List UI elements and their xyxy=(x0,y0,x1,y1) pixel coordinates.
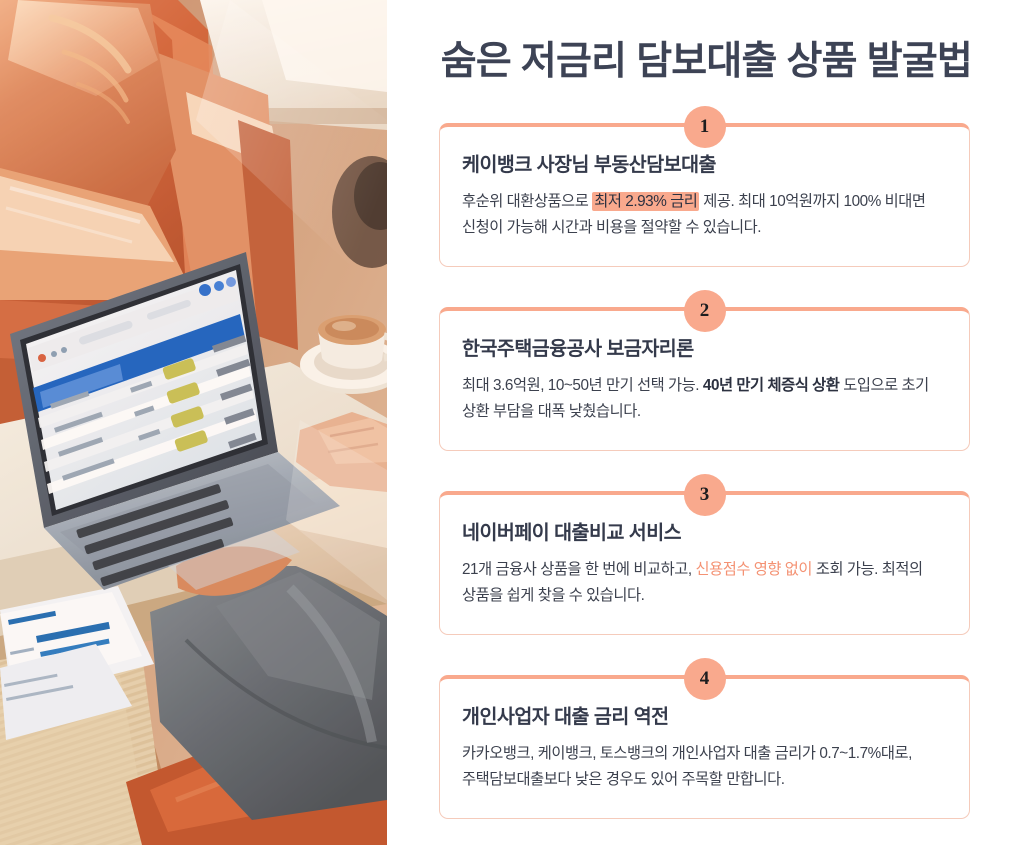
step-badge: 4 xyxy=(684,658,726,700)
product-card[interactable]: 3 네이버페이 대출비교 서비스 21개 금융사 상품을 한 번에 비교하고, … xyxy=(439,491,970,635)
card-title: 개인사업자 대출 금리 역전 xyxy=(462,705,945,730)
text-run-bold: 40년 만기 체증식 상환 xyxy=(703,377,840,394)
step-badge: 2 xyxy=(684,290,726,332)
card-wrap-3: 3 네이버페이 대출비교 서비스 21개 금융사 상품을 한 번에 비교하고, … xyxy=(439,491,970,635)
content-panel: 숨은 저금리 담보대출 상품 발굴법 1 케이뱅크 사장님 부동산담보대출 후순… xyxy=(387,0,1024,845)
product-card[interactable]: 1 케이뱅크 사장님 부동산담보대출 후순위 대환상품으로 최저 2.93% 금… xyxy=(439,123,970,267)
card-wrap-4: 4 개인사업자 대출 금리 역전 카카오뱅크, 케이뱅크, 토스뱅크의 개인사업… xyxy=(439,675,970,819)
infographic-page: 숨은 저금리 담보대출 상품 발굴법 1 케이뱅크 사장님 부동산담보대출 후순… xyxy=(0,0,1024,845)
card-title: 케이뱅크 사장님 부동산담보대출 xyxy=(462,153,945,178)
product-card[interactable]: 2 한국주택금융공사 보금자리론 최대 3.6억원, 10~50년 만기 선택 … xyxy=(439,307,970,451)
card-title: 한국주택금융공사 보금자리론 xyxy=(462,337,945,362)
card-body: 21개 금융사 상품을 한 번에 비교하고, 신용점수 영향 없이 조회 가능.… xyxy=(462,557,945,610)
step-badge: 3 xyxy=(684,474,726,516)
card-title: 네이버페이 대출비교 서비스 xyxy=(462,521,945,546)
card-list: 1 케이뱅크 사장님 부동산담보대출 후순위 대환상품으로 최저 2.93% 금… xyxy=(387,123,1024,819)
card-wrap-2: 2 한국주택금융공사 보금자리론 최대 3.6억원, 10~50년 만기 선택 … xyxy=(439,307,970,451)
text-run-plain: 후순위 대환상품으로 xyxy=(462,193,592,210)
step-badge: 1 xyxy=(684,106,726,148)
card-wrap-1: 1 케이뱅크 사장님 부동산담보대출 후순위 대환상품으로 최저 2.93% 금… xyxy=(439,123,970,267)
product-card[interactable]: 4 개인사업자 대출 금리 역전 카카오뱅크, 케이뱅크, 토스뱅크의 개인사업… xyxy=(439,675,970,819)
page-title: 숨은 저금리 담보대출 상품 발굴법 xyxy=(387,0,1024,87)
card-body: 최대 3.6억원, 10~50년 만기 선택 가능. 40년 만기 체증식 상환… xyxy=(462,373,945,426)
card-body: 카카오뱅크, 케이뱅크, 토스뱅크의 개인사업자 대출 금리가 0.7~1.7%… xyxy=(462,741,945,794)
text-run-plain: 21개 금융사 상품을 한 번에 비교하고, xyxy=(462,561,695,578)
text-run-color: 신용점수 영향 없이 xyxy=(695,561,812,578)
text-run-highlight: 최저 2.93% 금리 xyxy=(592,192,699,211)
photo-illustration xyxy=(0,0,387,845)
text-run-plain: 카카오뱅크, 케이뱅크, 토스뱅크의 개인사업자 대출 금리가 0.7~1.7%… xyxy=(462,745,912,788)
text-run-plain: 최대 3.6억원, 10~50년 만기 선택 가능. xyxy=(462,377,703,394)
laptop-on-table-photo xyxy=(0,0,387,845)
card-body: 후순위 대환상품으로 최저 2.93% 금리 제공. 최대 10억원까지 100… xyxy=(462,189,945,242)
